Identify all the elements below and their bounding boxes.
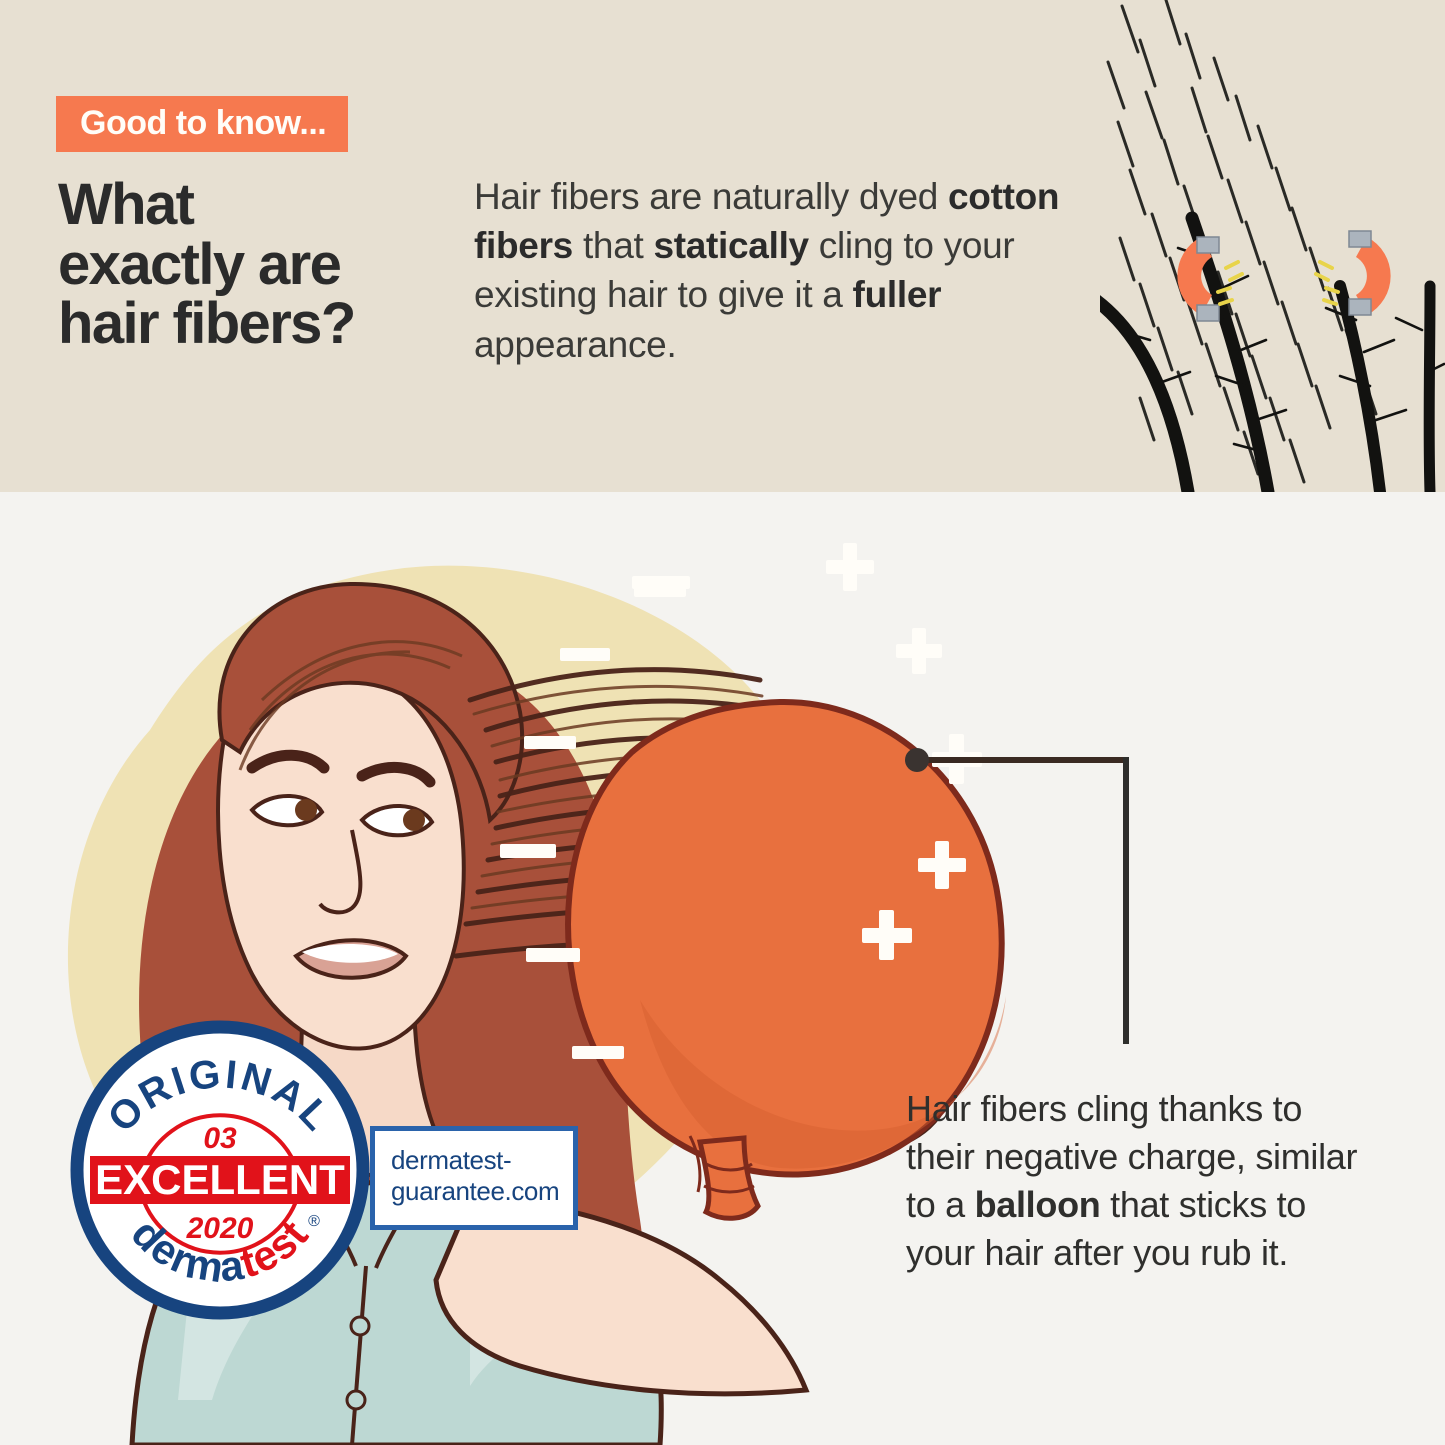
- intro-text-1: Hair fibers are naturally dyed: [474, 176, 948, 217]
- plus-sign: [826, 543, 874, 591]
- magnet-right: [1316, 231, 1391, 315]
- leader-line-vertical: [1123, 757, 1129, 1044]
- eyebrow-tag: Good to know...: [56, 96, 348, 152]
- intro-text-2: that: [573, 225, 653, 266]
- infographic-page: Good to know... What exactly are hair fi…: [0, 0, 1445, 1445]
- balloon-caption: Hair fibers cling thanks to their negati…: [906, 1085, 1376, 1277]
- minus-sign: [560, 648, 610, 661]
- minus-sign: [526, 948, 580, 962]
- intro-bold-2: statically: [653, 225, 808, 266]
- page-title: What exactly are hair fibers?: [58, 175, 488, 354]
- title-line-3: hair fibers?: [58, 294, 488, 354]
- pupil-right: [403, 809, 425, 831]
- seal-registered-mark: ®: [308, 1213, 320, 1230]
- caption-bold-1: balloon: [975, 1184, 1101, 1225]
- intro-text-4: appearance.: [474, 324, 676, 365]
- minus-sign: [524, 736, 576, 749]
- pupil-left: [295, 799, 317, 821]
- hair-strands-graphic: [1100, 0, 1445, 492]
- title-line-1: What: [58, 175, 488, 235]
- leader-line-horizontal: [917, 757, 1129, 763]
- dermatest-seal[interactable]: ORIGINAL 03 EXCELLENT 2020 dermatest ®: [70, 1020, 590, 1310]
- seal-rating-text: EXCELLENT: [95, 1156, 345, 1203]
- intro-paragraph: Hair fibers are naturally dyed cotton fi…: [474, 172, 1114, 369]
- leader-anchor-dot: [905, 748, 929, 772]
- seal-number: 03: [203, 1122, 237, 1155]
- plus-sign: [896, 628, 942, 674]
- minus-sign: [640, 576, 690, 589]
- intro-bold-3: fuller: [853, 274, 942, 315]
- minus-sign: [500, 844, 556, 858]
- title-line-2: exactly are: [58, 235, 488, 295]
